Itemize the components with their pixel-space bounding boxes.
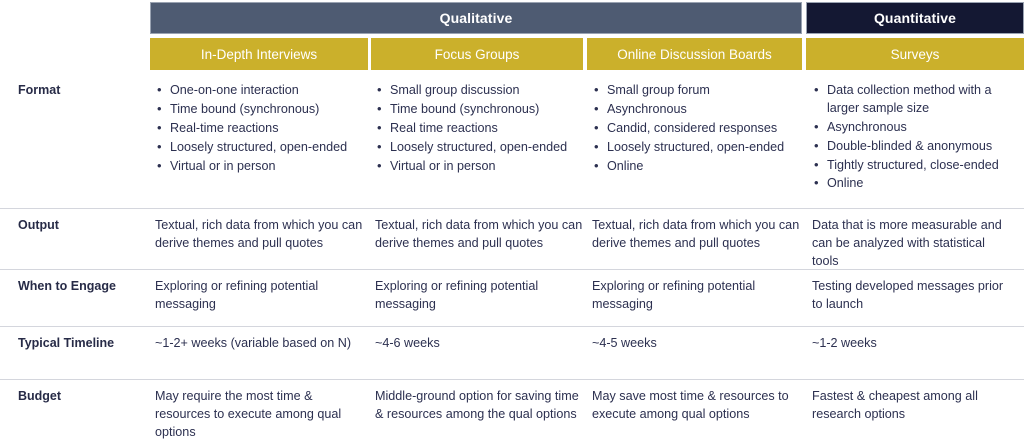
cell-output-online-discussion-boards: Textual, rich data from which you can de…: [592, 217, 800, 253]
list-item: Asynchronous: [812, 119, 1012, 137]
table-row: Typical Timeline ~1-2+ weeks (variable b…: [0, 326, 1024, 379]
cell-text: ~4-5 weeks: [592, 335, 800, 353]
cell-format-surveys: Data collection method with a larger sam…: [812, 82, 1012, 194]
cell-text: Textual, rich data from which you can de…: [375, 217, 583, 253]
cell-budget-surveys: Fastest & cheapest among all research op…: [812, 388, 1012, 424]
table-row: Budget May require the most time & resou…: [0, 379, 1024, 448]
list-item: Online: [812, 175, 1012, 193]
table-row: Format One-on-one interaction Time bound…: [0, 74, 1024, 208]
list-item: Online: [592, 158, 800, 176]
method-header-row: In-Depth Interviews Focus Groups Online …: [0, 38, 1024, 70]
list-item: Candid, considered responses: [592, 120, 800, 138]
cell-text: Testing developed messages prior to laun…: [812, 278, 1012, 314]
cell-text: ~1-2+ weeks (variable based on N): [155, 335, 365, 353]
list-item: Data collection method with a larger sam…: [812, 82, 1012, 118]
cell-format-focus-groups: Small group discussion Time bound (synch…: [375, 82, 583, 176]
list-item: Loosely structured, open-ended: [375, 139, 583, 157]
cell-text: May save most time & resources to execut…: [592, 388, 800, 424]
cell-format-in-depth-interviews: One-on-one interaction Time bound (synch…: [155, 82, 365, 176]
cell-text: Data that is more measurable and can be …: [812, 217, 1012, 271]
cell-text: ~4-6 weeks: [375, 335, 583, 353]
category-header-quantitative: Quantitative: [806, 2, 1024, 34]
cell-output-focus-groups: Textual, rich data from which you can de…: [375, 217, 583, 253]
category-header-row: Qualitative Quantitative: [0, 2, 1024, 34]
method-label-online-discussion-boards: Online Discussion Boards: [617, 47, 772, 62]
row-label-when-to-engage: When to Engage: [18, 278, 146, 294]
cell-when-to-engage-in-depth-interviews: Exploring or refining potential messagin…: [155, 278, 365, 314]
list-item: Small group forum: [592, 82, 800, 100]
list-item: Tightly structured, close-ended: [812, 157, 1012, 175]
cell-budget-online-discussion-boards: May save most time & resources to execut…: [592, 388, 800, 424]
list-item: Real-time reactions: [155, 120, 365, 138]
cell-text: Exploring or refining potential messagin…: [375, 278, 583, 314]
table-row: When to Engage Exploring or refining pot…: [0, 269, 1024, 326]
list-item: Double-blinded & anonymous: [812, 138, 1012, 156]
method-header-surveys: Surveys: [806, 38, 1024, 70]
cell-typical-timeline-focus-groups: ~4-6 weeks: [375, 335, 583, 353]
list-item: Time bound (synchronous): [375, 101, 583, 119]
list-item: Virtual or in person: [155, 158, 365, 176]
list-item: Small group discussion: [375, 82, 583, 100]
row-label-format: Format: [18, 82, 146, 98]
cell-text: ~1-2 weeks: [812, 335, 1012, 353]
cell-text: Textual, rich data from which you can de…: [155, 217, 365, 253]
cell-when-to-engage-surveys: Testing developed messages prior to laun…: [812, 278, 1012, 314]
method-header-online-discussion-boards: Online Discussion Boards: [587, 38, 802, 70]
category-label-qualitative: Qualitative: [440, 10, 513, 26]
category-header-qualitative: Qualitative: [150, 2, 802, 34]
cell-text: Exploring or refining potential messagin…: [155, 278, 365, 314]
cell-text: Middle-ground option for saving time & r…: [375, 388, 583, 424]
method-header-in-depth-interviews: In-Depth Interviews: [150, 38, 368, 70]
row-label-output: Output: [18, 217, 146, 233]
table-row: Output Textual, rich data from which you…: [0, 208, 1024, 269]
method-header-focus-groups: Focus Groups: [371, 38, 583, 70]
row-label-typical-timeline: Typical Timeline: [18, 335, 146, 351]
method-label-in-depth-interviews: In-Depth Interviews: [201, 47, 317, 62]
category-label-quantitative: Quantitative: [874, 10, 956, 26]
cell-typical-timeline-surveys: ~1-2 weeks: [812, 335, 1012, 353]
list-item: Asynchronous: [592, 101, 800, 119]
cell-output-in-depth-interviews: Textual, rich data from which you can de…: [155, 217, 365, 253]
cell-text: May require the most time & resources to…: [155, 388, 365, 442]
cell-typical-timeline-online-discussion-boards: ~4-5 weeks: [592, 335, 800, 353]
cell-output-surveys: Data that is more measurable and can be …: [812, 217, 1012, 271]
cell-text: Textual, rich data from which you can de…: [592, 217, 800, 253]
method-label-focus-groups: Focus Groups: [435, 47, 520, 62]
cell-budget-focus-groups: Middle-ground option for saving time & r…: [375, 388, 583, 424]
cell-typical-timeline-in-depth-interviews: ~1-2+ weeks (variable based on N): [155, 335, 365, 353]
cell-text: Exploring or refining potential messagin…: [592, 278, 800, 314]
list-item: One-on-one interaction: [155, 82, 365, 100]
table-body: Format One-on-one interaction Time bound…: [0, 74, 1024, 448]
row-label-budget: Budget: [18, 388, 146, 404]
list-item: Virtual or in person: [375, 158, 583, 176]
cell-budget-in-depth-interviews: May require the most time & resources to…: [155, 388, 365, 442]
list-item: Loosely structured, open-ended: [592, 139, 800, 157]
list-item: Loosely structured, open-ended: [155, 139, 365, 157]
method-label-surveys: Surveys: [891, 47, 940, 62]
list-item: Real time reactions: [375, 120, 583, 138]
comparison-table: Qualitative Quantitative In-Depth Interv…: [0, 0, 1024, 444]
list-item: Time bound (synchronous): [155, 101, 365, 119]
cell-when-to-engage-focus-groups: Exploring or refining potential messagin…: [375, 278, 583, 314]
cell-when-to-engage-online-discussion-boards: Exploring or refining potential messagin…: [592, 278, 800, 314]
cell-format-online-discussion-boards: Small group forum Asynchronous Candid, c…: [592, 82, 800, 176]
cell-text: Fastest & cheapest among all research op…: [812, 388, 1012, 424]
